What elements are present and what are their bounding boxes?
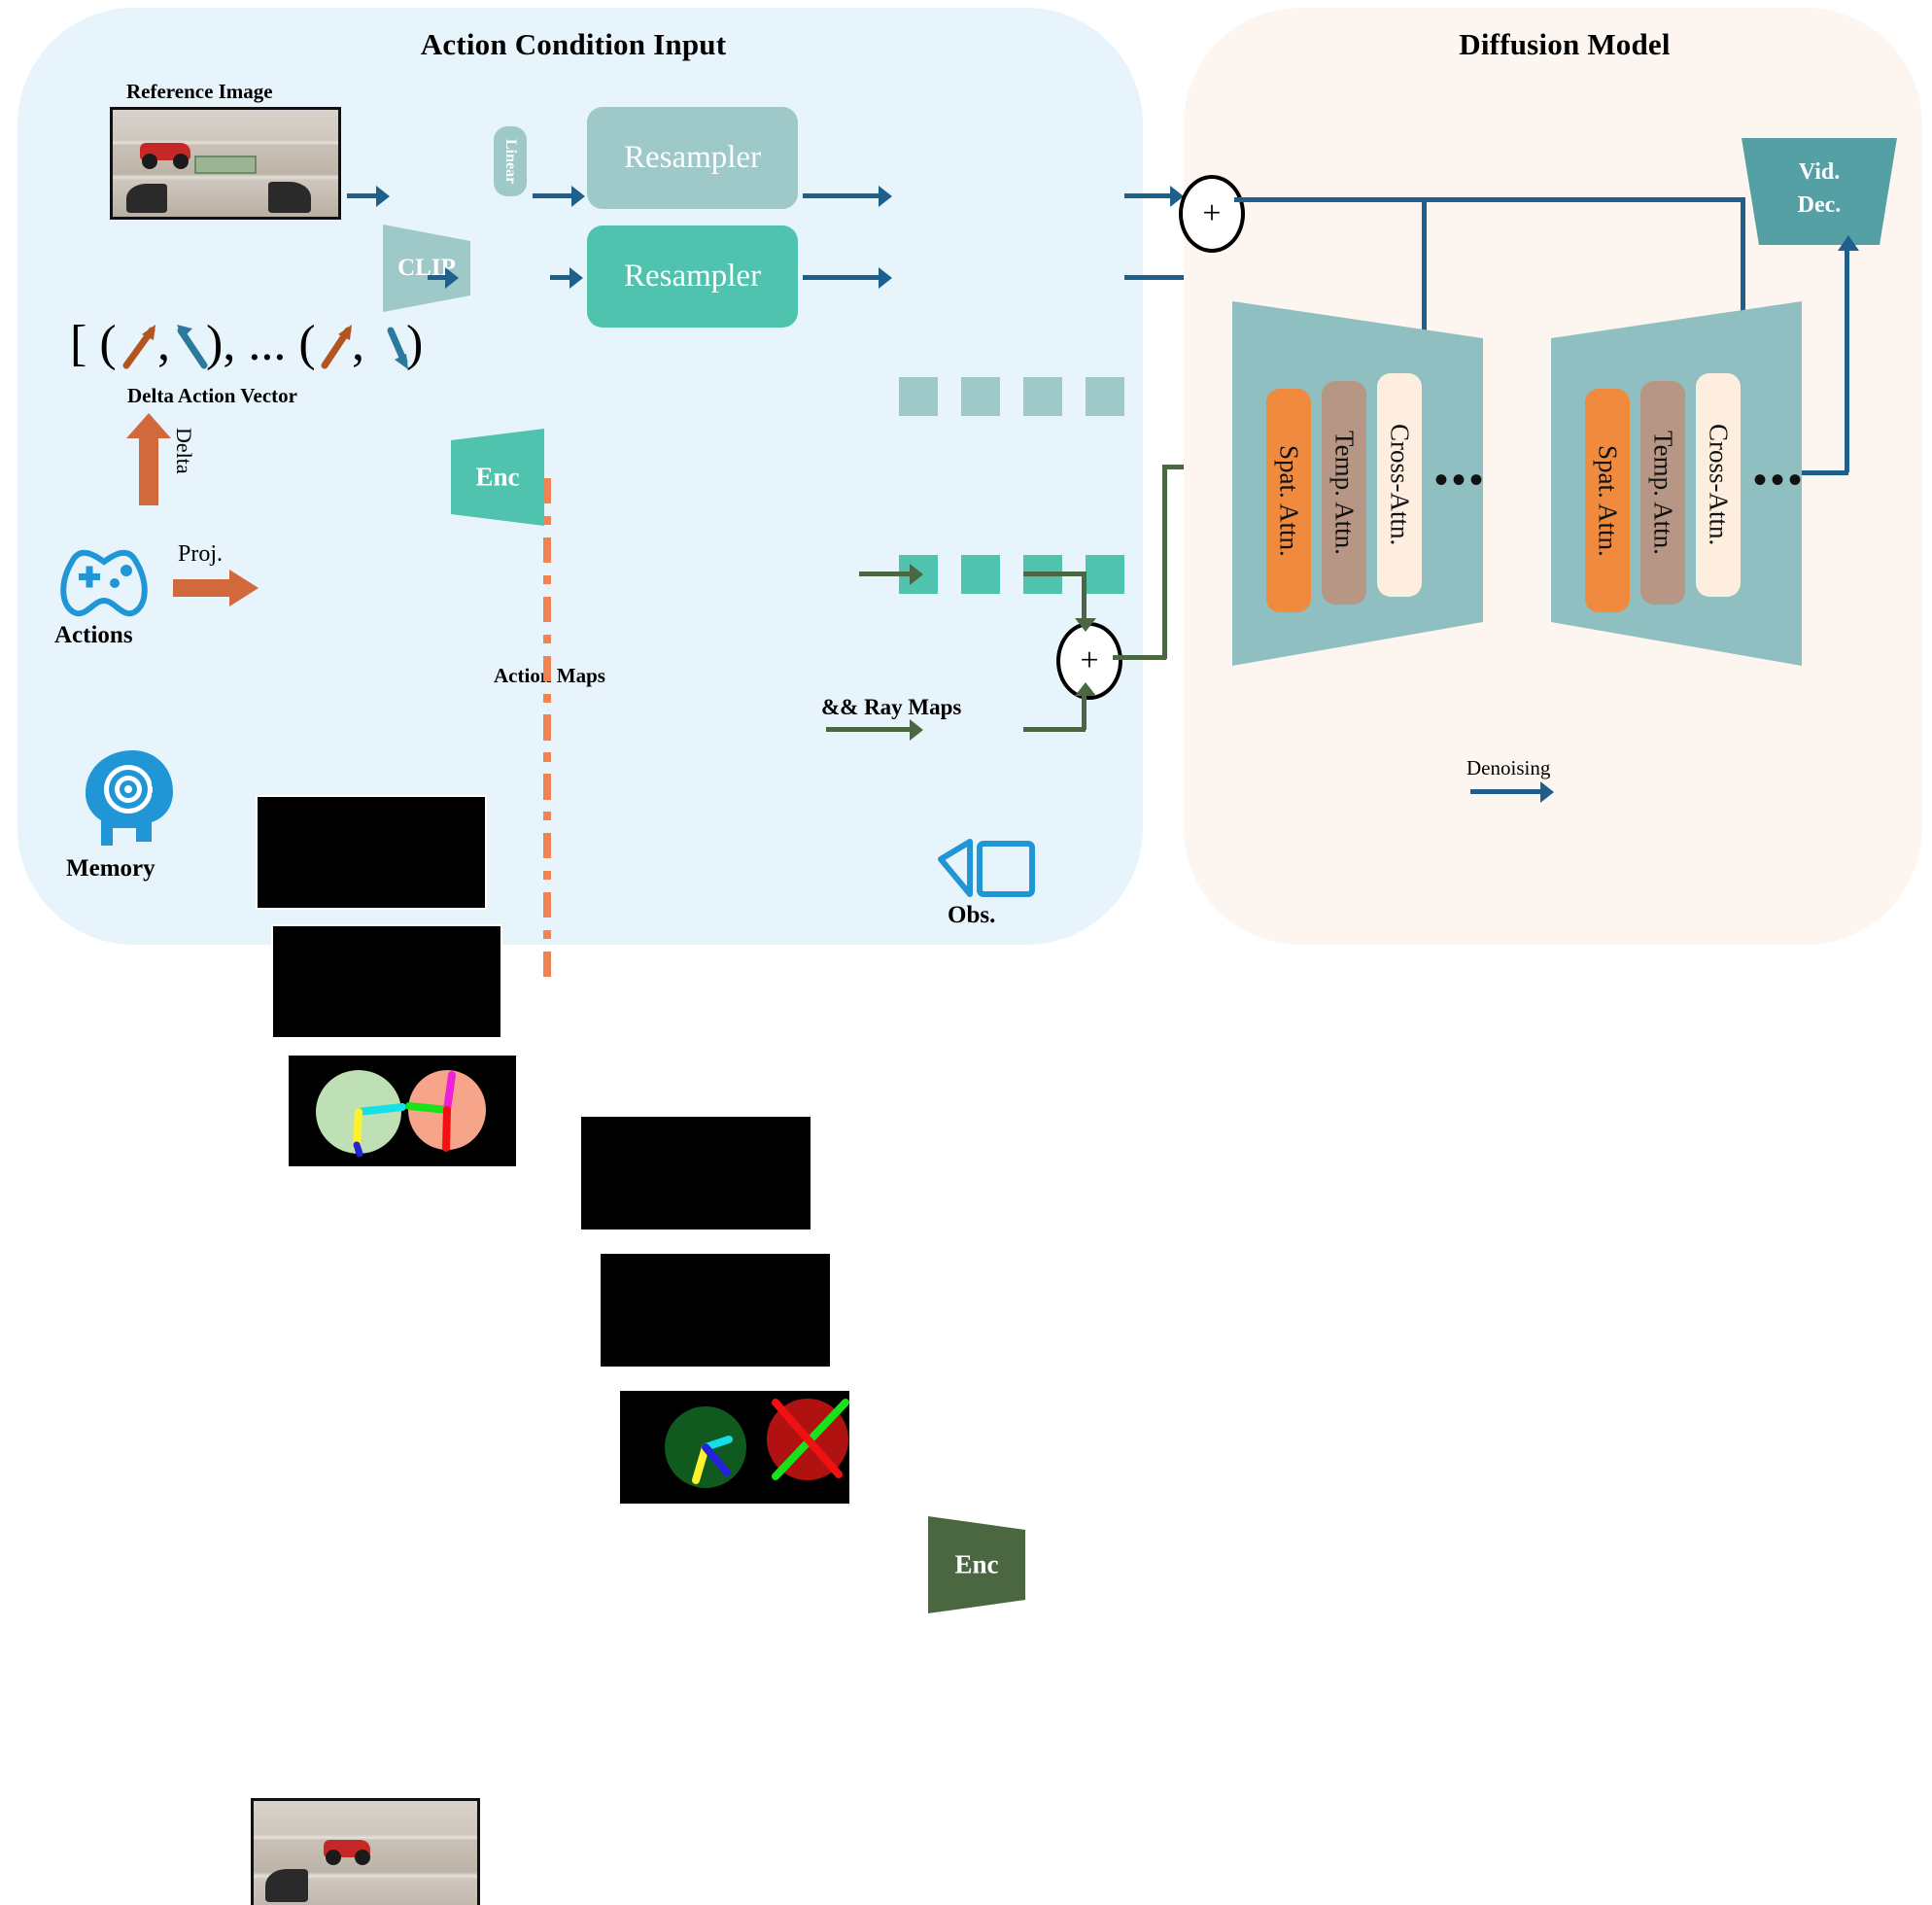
resampler-action-label: Resampler	[624, 259, 761, 294]
cross-attention-chip-1[interactable]: Cross-Attn.	[1377, 373, 1422, 597]
proj-label: Proj.	[178, 541, 223, 568]
arrow-expr-to-enc	[428, 275, 445, 280]
temporal-attention-chip-1[interactable]: Temp. Attn.	[1322, 381, 1366, 605]
arrow-ref-to-clip	[347, 193, 376, 198]
denoising-arrow	[1470, 789, 1540, 794]
arrow-raymaps-to-enc	[859, 571, 910, 576]
memory-photo-back	[251, 1798, 480, 1905]
resampler-image-block: Resampler	[587, 107, 798, 209]
line-raymapsenc-right	[1023, 571, 1086, 576]
svg-text:), ... (: ), ... (	[206, 316, 316, 371]
raymaps-encoder-block: Enc	[928, 1516, 1025, 1613]
ray-map-frame-mid	[599, 1252, 832, 1368]
svg-text:) ]: ) ]	[406, 316, 430, 371]
proj-arrow	[173, 570, 259, 606]
divider-dashdot-bottom	[543, 714, 551, 989]
arrowhead	[1838, 235, 1859, 251]
memory-label: Memory	[66, 855, 155, 883]
ray-maps-label: && Ray Maps	[821, 695, 961, 720]
enc-action-label: Enc	[451, 463, 544, 493]
delta-arrow	[126, 413, 171, 505]
linear-projection-block: Linear	[494, 126, 527, 196]
arrow-tokens-to-sum	[1124, 193, 1170, 198]
reference-image-label: Reference Image	[126, 80, 273, 104]
blue-sum-node: +	[1179, 175, 1245, 253]
arrowhead	[1075, 618, 1096, 632]
line-sum-right	[1113, 655, 1166, 660]
ray-map-frame-back	[579, 1115, 812, 1231]
svg-text:,: ,	[352, 316, 364, 371]
line-obsenc-up	[1082, 695, 1087, 730]
image-token	[1023, 377, 1062, 416]
arrow-enc-to-resampler	[550, 275, 569, 280]
resampler-action-block: Resampler	[587, 225, 798, 328]
arrowhead	[376, 186, 390, 207]
spatial-attention-chip-2[interactable]: Spat. Attn.	[1585, 389, 1630, 612]
line-unet-to-viddec	[1845, 249, 1849, 472]
svg-text:,: ,	[157, 316, 170, 371]
arrowhead	[910, 719, 923, 741]
temp-attn-label-2: Temp. Attn.	[1648, 431, 1678, 555]
arrowhead	[569, 267, 583, 289]
obs-label: Obs.	[948, 902, 995, 929]
camera-icon	[933, 838, 1036, 898]
enc-raymaps-label: Enc	[928, 1550, 1025, 1580]
action-map-frame-mid	[271, 924, 502, 1039]
delta-action-vector-label: Delta Action Vector	[127, 384, 297, 408]
image-token	[1086, 377, 1124, 416]
arrowhead	[910, 564, 923, 585]
line-raymapsenc-down	[1082, 571, 1087, 620]
plus-symbol: +	[1202, 197, 1221, 230]
cross-attn-label-2: Cross-Attn.	[1704, 424, 1734, 545]
arrow-resampler-to-tokens	[803, 193, 879, 198]
vid-dec-line1: Vid.	[1742, 156, 1897, 189]
reference-image-photo	[110, 107, 341, 220]
memory-brain-icon	[80, 748, 175, 848]
action-encoder-block: Enc	[451, 429, 544, 526]
image-token	[961, 377, 1000, 416]
image-token	[899, 377, 938, 416]
actions-label: Actions	[54, 622, 133, 649]
ellipsis-2: •••	[1753, 457, 1806, 502]
arrow-linear-to-resampler	[533, 193, 571, 198]
right-panel-title: Diffusion Model	[1361, 27, 1769, 62]
arrowhead	[879, 186, 892, 207]
resampler-image-label: Resampler	[624, 140, 761, 176]
action-map-frame-front	[287, 1054, 518, 1168]
gamepad-icon	[51, 544, 157, 620]
arrow-obs-to-enc	[826, 727, 910, 732]
cross-attn-label-1: Cross-Attn.	[1385, 424, 1415, 545]
ray-map-frame-front	[618, 1389, 851, 1506]
arrowhead	[1540, 781, 1554, 803]
delta-action-vector-expression: [ ( , ), ... ( , ) ]	[70, 309, 430, 379]
denoising-label: Denoising	[1466, 756, 1550, 780]
spatial-attention-chip-1[interactable]: Spat. Attn.	[1266, 389, 1311, 612]
arrowhead	[445, 267, 459, 289]
temp-attn-label-1: Temp. Attn.	[1329, 431, 1360, 555]
temporal-attention-chip-2[interactable]: Temp. Attn.	[1640, 381, 1685, 605]
arrowhead	[571, 186, 585, 207]
arrowhead	[879, 267, 892, 289]
line-obsenc-right	[1023, 727, 1086, 732]
action-token	[961, 555, 1000, 594]
svg-text:[ (: [ (	[70, 316, 117, 371]
ellipsis-1: •••	[1434, 457, 1487, 502]
arrow-resampler2-to-tokens	[803, 275, 879, 280]
cross-attention-chip-2[interactable]: Cross-Attn.	[1696, 373, 1741, 597]
left-panel-title: Action Condition Input	[321, 27, 826, 62]
arrowhead	[1075, 682, 1096, 696]
action-map-frame-back	[256, 795, 487, 910]
vid-dec-line2: Dec.	[1742, 189, 1897, 222]
line-sum-horizontal	[1234, 197, 1745, 202]
action-token	[1086, 555, 1124, 594]
plus-symbol: +	[1080, 644, 1098, 677]
linear-label: Linear	[501, 139, 519, 184]
spat-attn-label-1: Spat. Attn.	[1274, 445, 1304, 557]
line-sum-up	[1162, 467, 1167, 659]
spat-attn-label-2: Spat. Attn.	[1593, 445, 1623, 557]
delta-arrow-label: Delta	[171, 428, 196, 479]
video-decoder-block: Vid. Dec.	[1742, 138, 1897, 245]
